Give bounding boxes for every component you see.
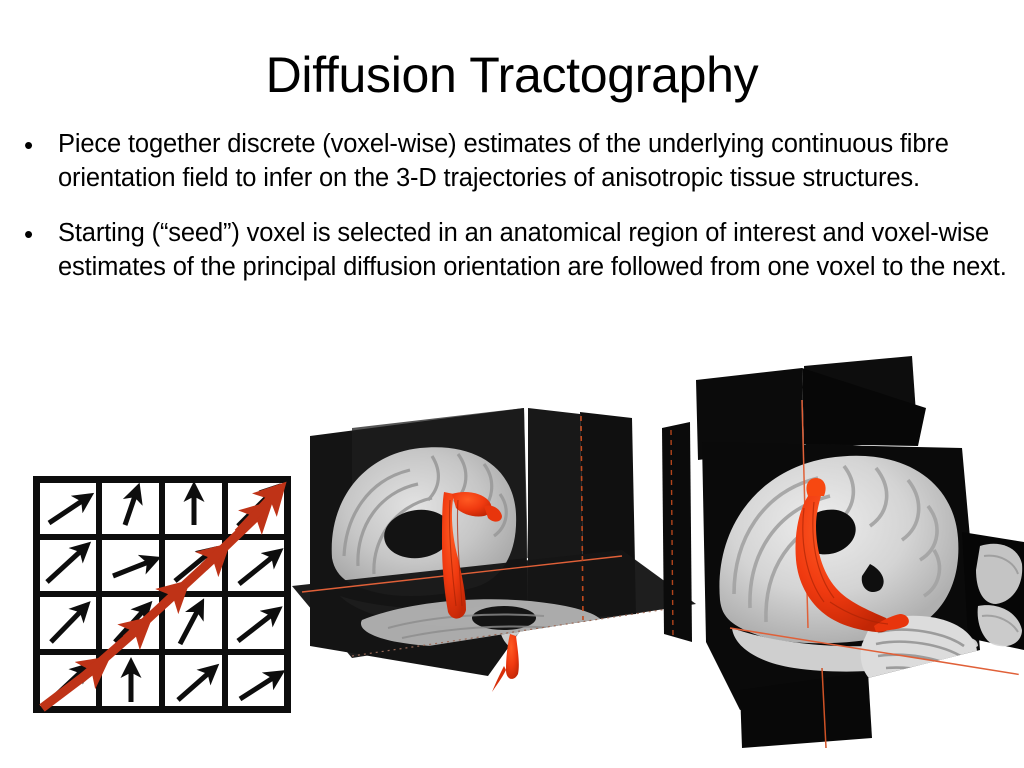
voxel-arrow-r4c3: [178, 671, 211, 700]
bullet-item-2: • Starting (“seed”) voxel is selected in…: [18, 217, 1008, 284]
brain-3d-render-rotated: [662, 350, 1024, 750]
brain-render-middle-svg: [292, 408, 696, 768]
streamline-segment-6: [238, 496, 273, 533]
voxel-orientation-grid-figure: [33, 476, 291, 713]
left-edge-plane: [662, 422, 692, 642]
figure-row: [0, 350, 1024, 768]
voxel-arrow-r3c3: [180, 608, 199, 644]
voxel-arrow-r1c1: [49, 499, 85, 523]
bullet-marker: •: [18, 217, 58, 251]
brain-3d-render-sagittal: [292, 408, 696, 768]
voxel-arrow-r2c2: [113, 561, 151, 576]
bullet-text: Piece together discrete (voxel-wise) est…: [58, 128, 1008, 195]
slide-canvas: Diffusion Tractography • Piece together …: [0, 0, 1024, 768]
voxel-arrow-r4c4: [240, 676, 276, 699]
brain-render-right-svg: [662, 350, 1024, 750]
voxel-arrow-r2c1: [47, 549, 83, 582]
bullet-marker: •: [18, 128, 58, 162]
voxel-orientation-grid: [33, 476, 291, 713]
voxel-arrow-r3c4: [238, 613, 274, 641]
bullet-list: • Piece together discrete (voxel-wise) e…: [18, 128, 1008, 306]
voxel-arrow-r2c4: [239, 555, 275, 584]
voxel-arrow-r3c1: [51, 609, 83, 642]
voxel-arrow-r1c2: [125, 493, 136, 525]
bullet-item-1: • Piece together discrete (voxel-wise) e…: [18, 128, 1008, 195]
page-title: Diffusion Tractography: [0, 46, 1024, 104]
bullet-text: Starting (“seed”) voxel is selected in a…: [58, 217, 1008, 284]
